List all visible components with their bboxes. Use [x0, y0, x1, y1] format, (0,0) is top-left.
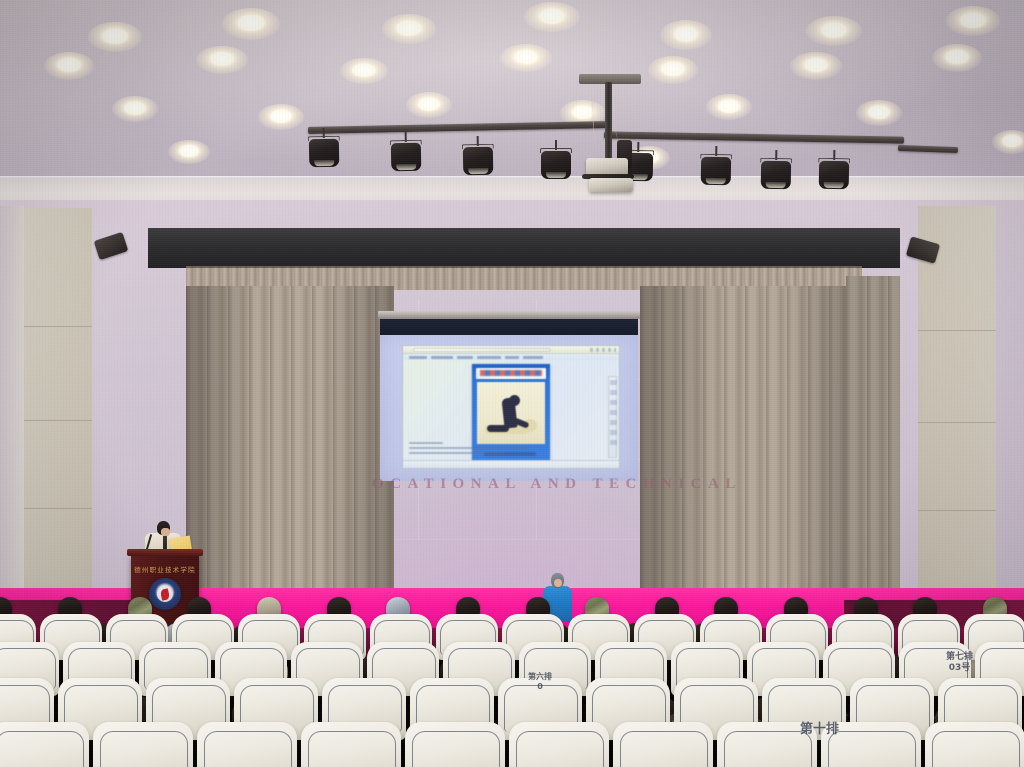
- spotlight-lens: [824, 182, 843, 188]
- ceiling-downlight: [500, 44, 552, 72]
- ceiling-downlight: [382, 14, 436, 44]
- seat-row-label: 第十排: [800, 722, 839, 737]
- pilaster-left: [22, 208, 92, 640]
- page-sidebar-strip: [608, 376, 617, 458]
- ceiling-downlight: [406, 92, 452, 118]
- spotlight-lens: [546, 172, 565, 178]
- ceiling-downlight: [856, 100, 902, 126]
- spotlight-lens: [315, 160, 334, 166]
- spotlight-body: [701, 157, 731, 186]
- spotlight-lens: [766, 182, 785, 188]
- spotlight-body: [463, 147, 493, 176]
- screen-surface: [380, 335, 638, 481]
- downlight-core: [57, 58, 81, 72]
- downlight-core: [960, 13, 986, 28]
- projection-screen: [378, 311, 640, 483]
- curtain-right-shading: [640, 286, 862, 626]
- seat-row-number: 第六排: [528, 672, 552, 681]
- standing-person-face: [554, 579, 562, 587]
- ceiling-downlight: [196, 46, 248, 74]
- projected-browser-window: [402, 345, 620, 469]
- ceiling-downlight: [790, 52, 842, 80]
- slide-illustration: [477, 382, 545, 444]
- browser-toolbar: [403, 346, 619, 354]
- downlight-core: [718, 100, 740, 113]
- auditorium-seat[interactable]: [405, 722, 505, 767]
- stage-spotlight: [700, 146, 733, 189]
- ceiling-downlight: [932, 44, 982, 72]
- ceiling-downlight: [524, 2, 580, 32]
- downlight-core: [352, 64, 375, 77]
- spotlight-body: [541, 151, 571, 179]
- screen-roller-case: [378, 311, 640, 319]
- browser-window-buttons: [590, 348, 616, 352]
- downlight-core: [868, 106, 890, 119]
- seat-row-number: 第七排: [946, 652, 973, 662]
- spotlight-body: [309, 139, 339, 168]
- downlight-core: [179, 145, 199, 157]
- stage-spotlight: [462, 136, 495, 179]
- curtain-left-shading: [186, 286, 394, 626]
- downlight-core: [1002, 135, 1021, 147]
- downlight-core: [514, 50, 539, 64]
- stage-spotlight: [760, 150, 793, 193]
- ceiling-downlight: [660, 20, 712, 50]
- auditorium-seat[interactable]: [301, 722, 401, 767]
- stage-spotlight: [540, 140, 572, 182]
- auditorium-photo: OCATIONAL AND TECHNICAL 德州职业技术学院: [0, 0, 1024, 767]
- downlight-core: [804, 58, 829, 72]
- stage-spotlight: [308, 128, 341, 171]
- auditorium-seat[interactable]: [925, 722, 1024, 767]
- ceiling-downlight: [648, 56, 698, 84]
- ceiling-downlight: [222, 8, 280, 40]
- ceiling-downlight: [706, 94, 752, 120]
- ceiling-downlight: [168, 140, 210, 164]
- spotlight-lens: [706, 178, 725, 184]
- ceiling-downlight: [992, 130, 1024, 154]
- downlight-core: [102, 29, 128, 44]
- downlight-core: [396, 21, 422, 36]
- auditorium-seat[interactable]: [0, 722, 89, 767]
- ceiling-downlight: [946, 6, 1000, 36]
- ceiling-downlight: [340, 58, 388, 84]
- ceiling-downlight: [112, 96, 158, 122]
- downlight-core: [539, 9, 566, 24]
- seat-row-label: 第七排03号: [946, 652, 973, 674]
- slide-title-text-blur: [480, 370, 542, 376]
- downlight-core: [124, 102, 146, 115]
- spotlight-lens: [469, 168, 488, 174]
- downlight-core: [674, 27, 699, 42]
- spotlight-body: [761, 161, 791, 190]
- downlight-core: [210, 52, 235, 66]
- stage-pelmet: [148, 228, 900, 268]
- seat-row-label: 第六排0: [528, 672, 552, 692]
- screen-top-band: [380, 319, 638, 335]
- downlight-core: [945, 50, 969, 64]
- projector-pole: [605, 82, 612, 166]
- auditorium-seat[interactable]: [613, 722, 713, 767]
- wall-corner-left: [0, 206, 24, 642]
- seat-row-number: 第十排: [800, 722, 839, 737]
- audience-area: [0, 596, 1024, 767]
- pilaster-right: [918, 206, 996, 644]
- downlight-core: [237, 15, 265, 31]
- projector-base-tray: [589, 178, 633, 192]
- browser-content-area: [403, 360, 619, 460]
- curtain-far-right: [846, 276, 900, 628]
- spotlight-lens: [397, 164, 416, 170]
- downlight-core: [572, 106, 594, 119]
- page-text-blocks: [407, 442, 558, 458]
- downlight-core: [821, 23, 848, 38]
- auditorium-seat[interactable]: [93, 722, 193, 767]
- speaker-face: [161, 528, 170, 536]
- seat-number: 0: [537, 682, 543, 691]
- downlight-core: [270, 110, 292, 123]
- downlight-core: [418, 98, 440, 111]
- ceiling-downlight: [258, 104, 304, 130]
- stage-spotlight: [818, 150, 851, 193]
- auditorium-seat[interactable]: [197, 722, 297, 767]
- browser-status-bar: [403, 460, 619, 468]
- podium-inscription: 德州职业技术学院: [131, 564, 199, 574]
- browser-address-bar: [413, 348, 551, 352]
- auditorium-seat[interactable]: [509, 722, 609, 767]
- downlight-core: [661, 62, 685, 76]
- seat-number: 03号: [949, 663, 971, 673]
- ceiling-downlight: [44, 52, 94, 80]
- wall-lettering: OCATIONAL AND TECHNICAL: [372, 476, 676, 493]
- spotlight-body: [391, 143, 421, 172]
- spotlight-body: [819, 161, 849, 190]
- stage-spotlight: [390, 132, 423, 175]
- ceiling-downlight: [88, 22, 142, 52]
- ceiling-downlight: [806, 16, 862, 46]
- podium-top-surface: [127, 549, 203, 556]
